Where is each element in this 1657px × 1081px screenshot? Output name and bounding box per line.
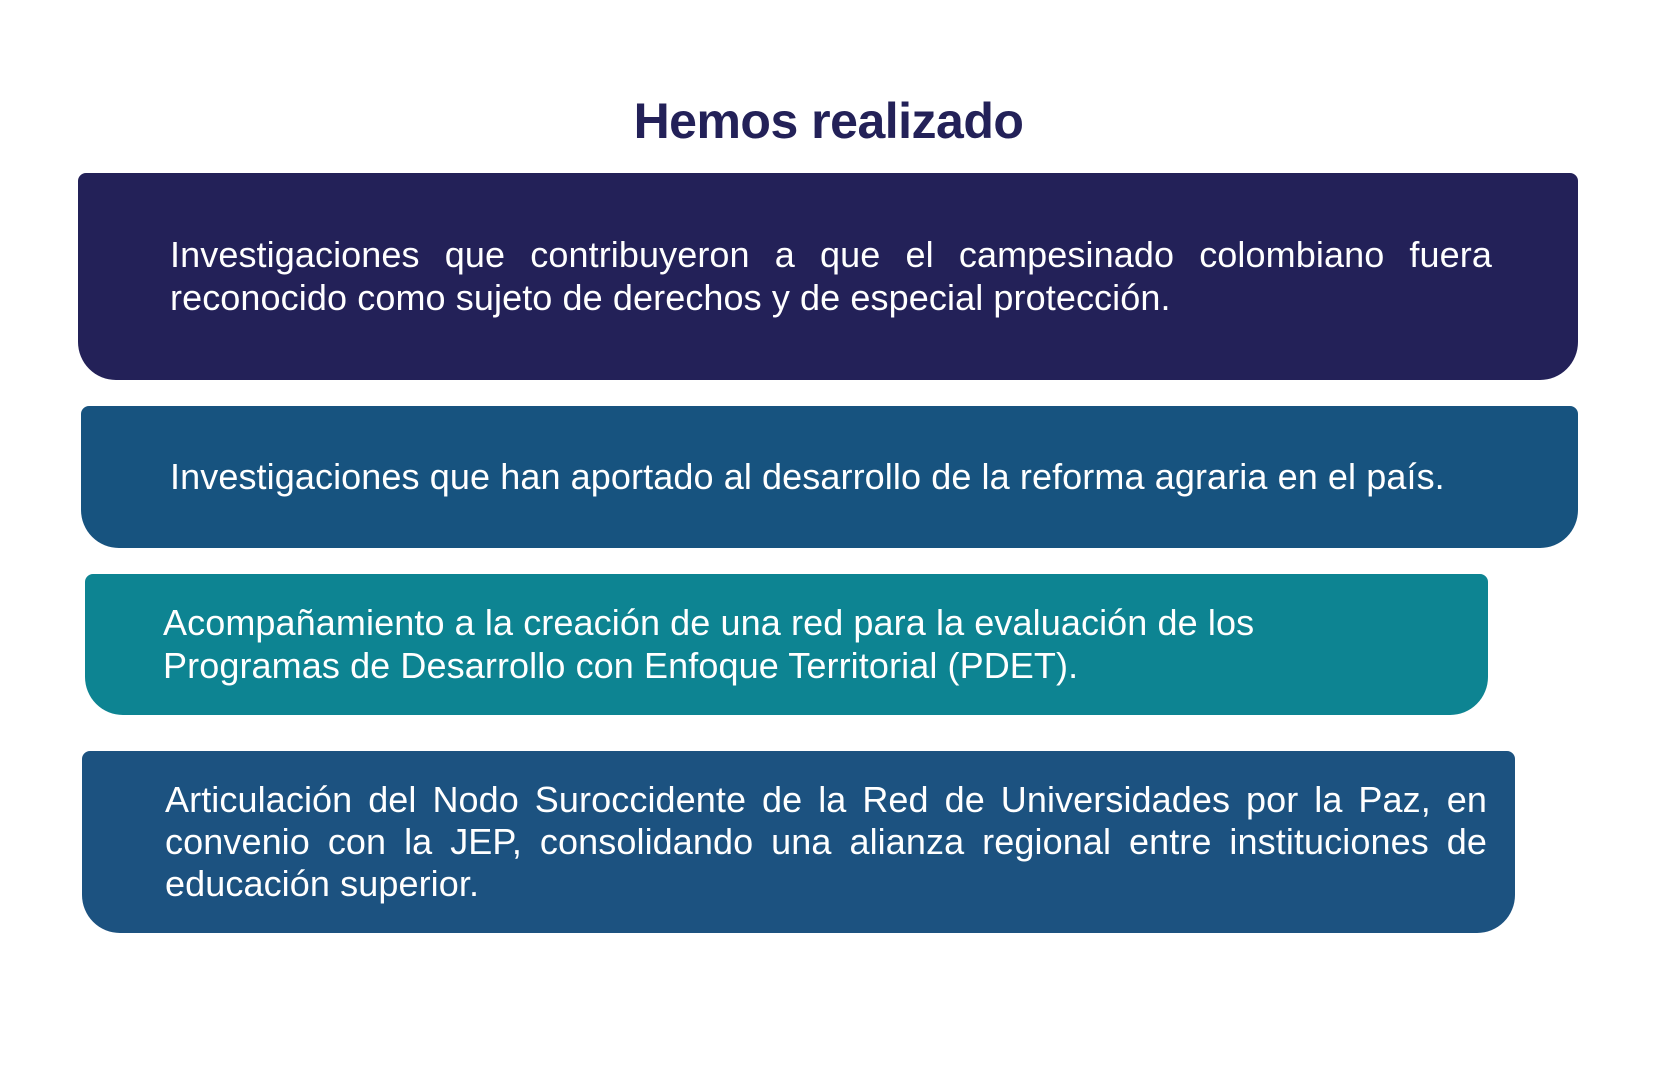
card-body-text: Acompañamiento a la creación de una red … <box>163 602 1433 686</box>
list-item[interactable]: Investigaciones que han aportado al desa… <box>81 406 1578 548</box>
card-body-text: Investigaciones que han aportado al desa… <box>170 456 1492 498</box>
list-item[interactable]: Articulación del Nodo Suroccidente de la… <box>82 751 1515 933</box>
card-body-text: Articulación del Nodo Suroccidente de la… <box>165 779 1487 905</box>
list-item[interactable]: Acompañamiento a la creación de una red … <box>85 574 1488 715</box>
card-body-text: Investigaciones que contribuyeron a que … <box>170 234 1492 318</box>
list-item[interactable]: Investigaciones que contribuyeron a que … <box>78 173 1578 380</box>
slide-root: Hemos realizado Investigaciones que cont… <box>0 0 1657 1081</box>
page-title: Hemos realizado <box>0 92 1657 150</box>
